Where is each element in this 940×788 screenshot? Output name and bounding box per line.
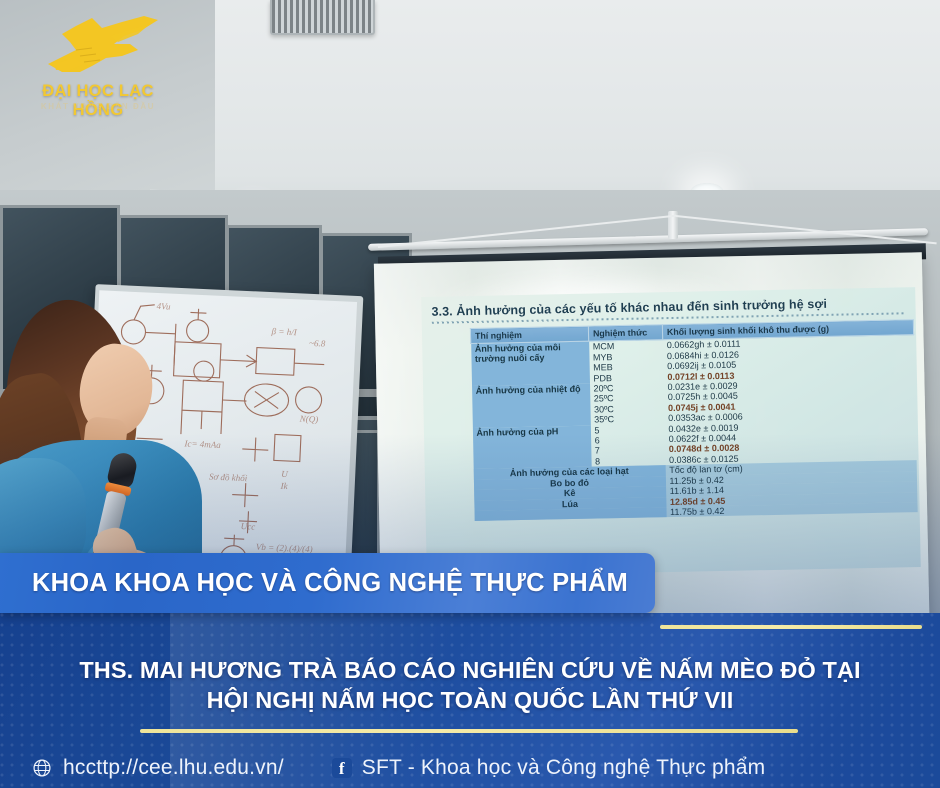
projected-slide: 3.3. Ảnh hưởng của các yếu tố khác nhau …: [421, 287, 921, 577]
svg-text:~6.8: ~6.8: [309, 338, 326, 349]
department-label: KHOA KHOA HỌC VÀ CÔNG NGHỆ THỰC PHẨM: [32, 569, 628, 598]
group-label-medium: Ảnh hưởng của môi trường nuôi cấy: [471, 342, 590, 386]
event-title-block: THS. MAI HƯƠNG TRÀ BÁO CÁO NGHIÊN CỨU VỀ…: [0, 655, 940, 715]
website-url: hccttp://cee.lhu.edu.vn/: [63, 756, 284, 780]
facebook-icon: f: [332, 758, 352, 778]
event-title-line-2: HỘI NGHỊ NẤM HỌC TOÀN QUỐC LẦN THỨ VII: [0, 685, 940, 715]
ac-vent-icon: [270, 0, 375, 35]
logo-name: ĐẠI HỌC LẠC HỒNG: [18, 82, 178, 120]
promotional-banner: 4Vu β = h/I ~6.8 2t Ic= 4mAa N(Q) Sơ đồ …: [0, 0, 940, 788]
table-body: Ảnh hưởng của môi trường nuôi cấy MCM 0.…: [471, 335, 917, 521]
phoenix-bird-icon: [18, 14, 178, 84]
group-label-ph: Ảnh hưởng của pH: [472, 425, 591, 469]
accent-rule-right: [660, 625, 922, 629]
svg-text:N(Q): N(Q): [299, 413, 319, 424]
accent-rule-left: [140, 729, 798, 733]
svg-text:Ik: Ik: [279, 481, 288, 491]
svg-text:β = h/I: β = h/I: [270, 326, 297, 337]
group-label-temperature: Ảnh hưởng của nhiệt độ: [472, 384, 591, 428]
logo-tagline: KHÁT VỌNG DẪN ĐẦU: [18, 102, 178, 111]
facebook-contact[interactable]: f SFT - Khoa học và Công nghệ Thực phẩm: [332, 756, 766, 780]
university-logo: ĐẠI HỌC LẠC HỒNG KHÁT VỌNG DẪN ĐẦU: [18, 14, 178, 118]
event-title-line-1: THS. MAI HƯƠNG TRÀ BÁO CÁO NGHIÊN CỨU VỀ…: [0, 655, 940, 685]
facebook-page-name: SFT - Khoa học và Công nghệ Thực phẩm: [362, 756, 766, 780]
svg-text:Ucc: Ucc: [241, 521, 256, 532]
svg-text:U: U: [281, 469, 288, 479]
contact-footer: hccttp://cee.lhu.edu.vn/ f SFT - Khoa họ…: [0, 748, 940, 788]
slide-results-table: Thí nghiệm Nghiệm thức Khối lượng sinh k…: [470, 319, 918, 521]
column-header-treatment: Nghiệm thức: [588, 325, 662, 342]
globe-icon: [32, 758, 52, 778]
department-banner: KHOA KHOA HỌC VÀ CÔNG NGHỆ THỰC PHẨM: [0, 553, 655, 613]
website-contact[interactable]: hccttp://cee.lhu.edu.vn/: [32, 756, 284, 780]
